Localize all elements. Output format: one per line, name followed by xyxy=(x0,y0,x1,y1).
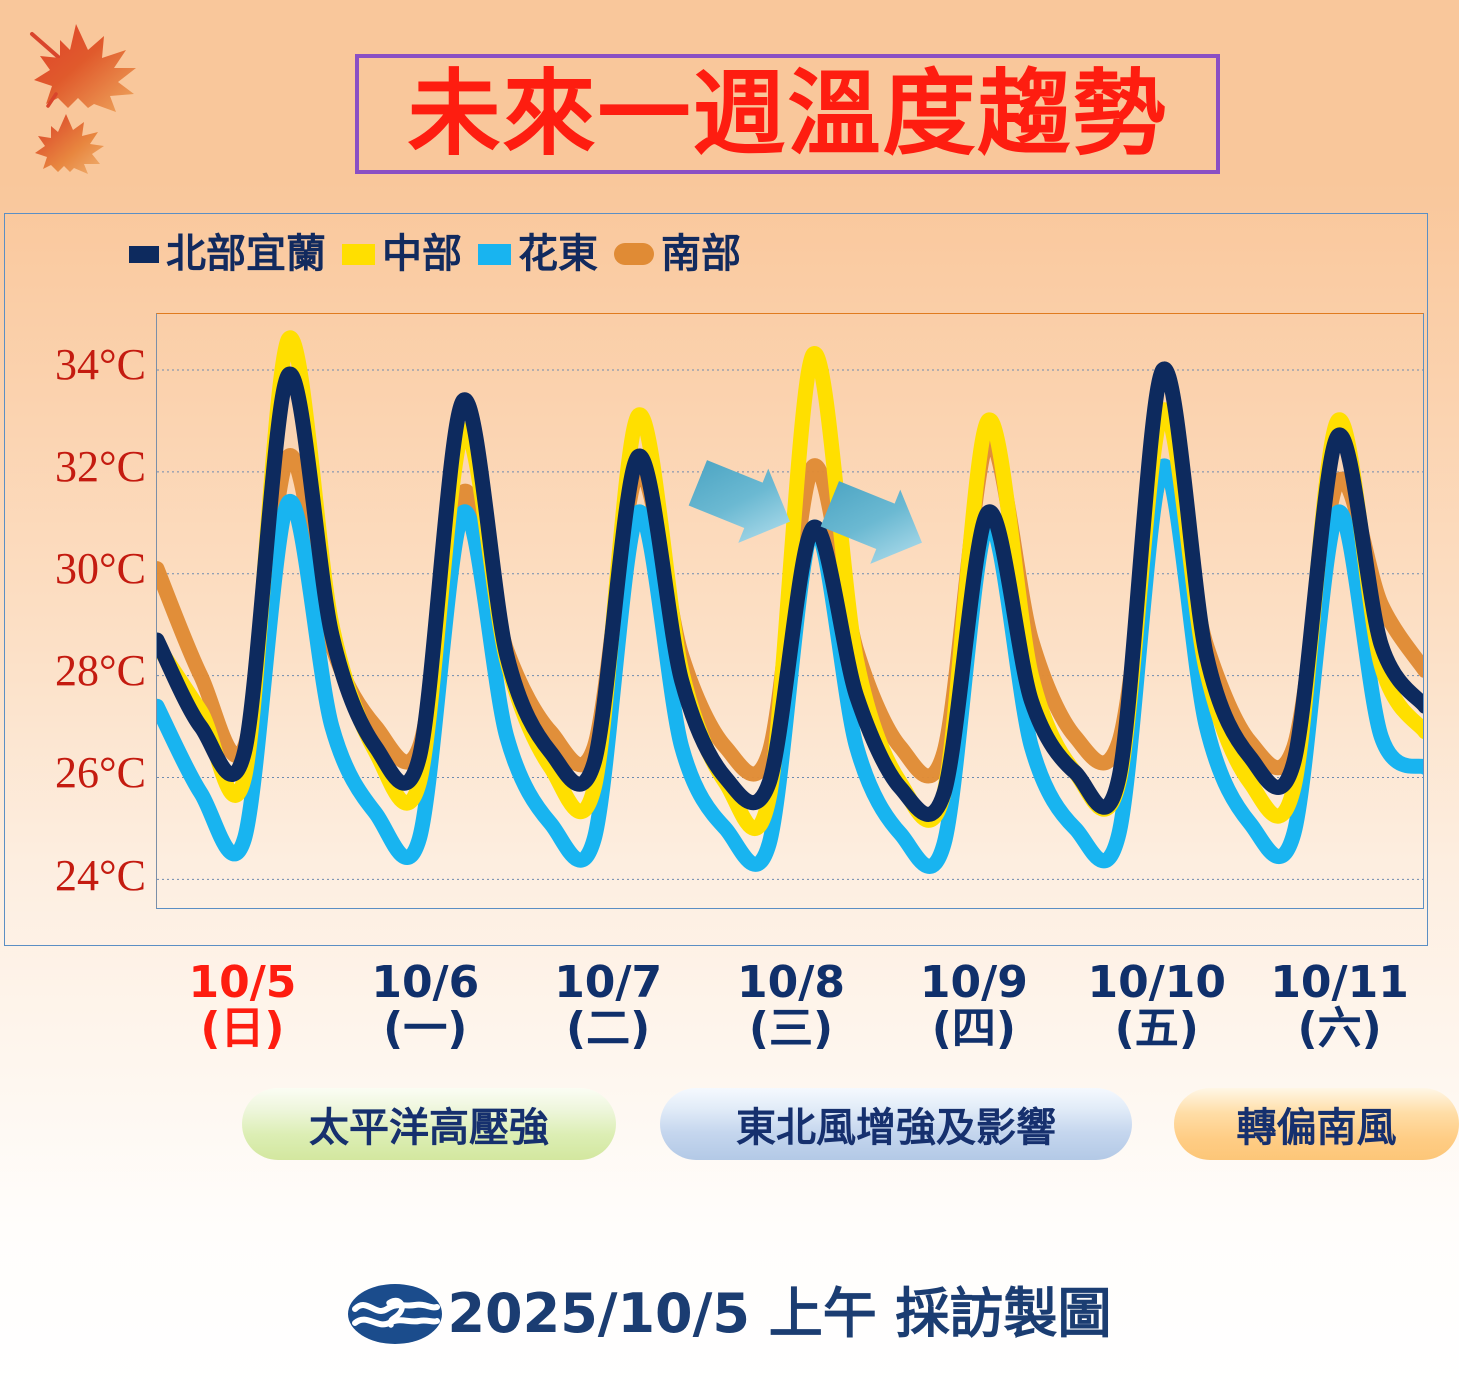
legend-swatch-south xyxy=(614,243,654,265)
x-tick-weekday: (日) xyxy=(151,1006,334,1052)
maple-leaf-icon xyxy=(18,12,148,192)
legend-label-central: 中部 xyxy=(382,234,462,274)
cwa-wave-logo-icon xyxy=(347,1283,443,1345)
x-tick-date: 10/7 xyxy=(517,960,700,1006)
x-tick-date: 10/8 xyxy=(700,960,883,1006)
series-lines xyxy=(157,338,1424,867)
legend-swatch-central xyxy=(342,244,375,265)
y-tick-34: 34°C xyxy=(8,343,154,387)
title-box: 未來一週溫度趨勢 xyxy=(355,54,1220,174)
y-tick-30: 30°C xyxy=(8,547,154,591)
x-tick-10-5: 10/5 (日) xyxy=(151,960,334,1070)
x-tick-10-10: 10/10 (五) xyxy=(1065,960,1248,1070)
legend-item-north[interactable]: 北部宜蘭 xyxy=(129,234,326,274)
x-tick-10-6: 10/6 (一) xyxy=(334,960,517,1070)
x-tick-weekday: (五) xyxy=(1065,1006,1248,1052)
x-tick-10-11: 10/11 (六) xyxy=(1248,960,1431,1070)
pill-northeast-wind[interactable]: 東北風增強及影響 xyxy=(660,1088,1132,1160)
x-tick-date: 10/10 xyxy=(1065,960,1248,1006)
x-tick-10-9: 10/9 (四) xyxy=(882,960,1065,1070)
x-axis-labels: 10/5 (日) 10/6 (一) 10/7 (二) 10/8 (三) 10/9… xyxy=(151,960,1431,1070)
y-tick-28: 28°C xyxy=(8,649,154,693)
legend-item-central[interactable]: 中部 xyxy=(342,234,462,274)
legend-label-south: 南部 xyxy=(661,234,741,274)
pill-south-wind[interactable]: 轉偏南風 xyxy=(1174,1088,1459,1160)
chart-card: 北部宜蘭 中部 花東 南部 34°C 32°C 30°C 28°C 26°C 2… xyxy=(4,213,1428,946)
y-tick-32: 32°C xyxy=(8,445,154,489)
page-footer: 2025/10/5 上午 採訪製圖 xyxy=(0,1272,1459,1356)
x-tick-10-7: 10/7 (二) xyxy=(517,960,700,1070)
y-tick-26: 26°C xyxy=(8,751,154,795)
plot-area xyxy=(156,313,1424,909)
x-tick-weekday: (六) xyxy=(1248,1006,1431,1052)
page-title: 未來一週溫度趨勢 xyxy=(408,68,1168,161)
x-tick-weekday: (三) xyxy=(700,1006,883,1052)
y-tick-24: 24°C xyxy=(8,854,154,898)
x-tick-weekday: (四) xyxy=(882,1006,1065,1052)
page-header: 未來一週溫度趨勢 xyxy=(0,0,1459,212)
chart-legend: 北部宜蘭 中部 花東 南部 xyxy=(129,228,741,280)
x-tick-date: 10/11 xyxy=(1248,960,1431,1006)
x-tick-weekday: (二) xyxy=(517,1006,700,1052)
weather-annotation-pills: 太平洋高壓強 東北風增強及影響 轉偏南風 xyxy=(0,1088,1459,1162)
pill-pacific-high[interactable]: 太平洋高壓強 xyxy=(242,1088,616,1160)
legend-item-south[interactable]: 南部 xyxy=(614,234,741,274)
legend-swatch-north xyxy=(129,246,159,263)
legend-label-huadong: 花東 xyxy=(518,234,598,274)
x-tick-10-8: 10/8 (三) xyxy=(700,960,883,1070)
x-tick-date: 10/6 xyxy=(334,960,517,1006)
legend-swatch-huadong xyxy=(478,244,511,265)
legend-label-north: 北部宜蘭 xyxy=(166,234,326,274)
x-tick-weekday: (一) xyxy=(334,1006,517,1052)
footer-caption: 2025/10/5 上午 採訪製圖 xyxy=(447,1287,1111,1341)
x-tick-date: 10/9 xyxy=(882,960,1065,1006)
legend-item-huadong[interactable]: 花東 xyxy=(478,234,598,274)
temperature-line-chart xyxy=(157,314,1424,909)
x-tick-date: 10/5 xyxy=(151,960,334,1006)
